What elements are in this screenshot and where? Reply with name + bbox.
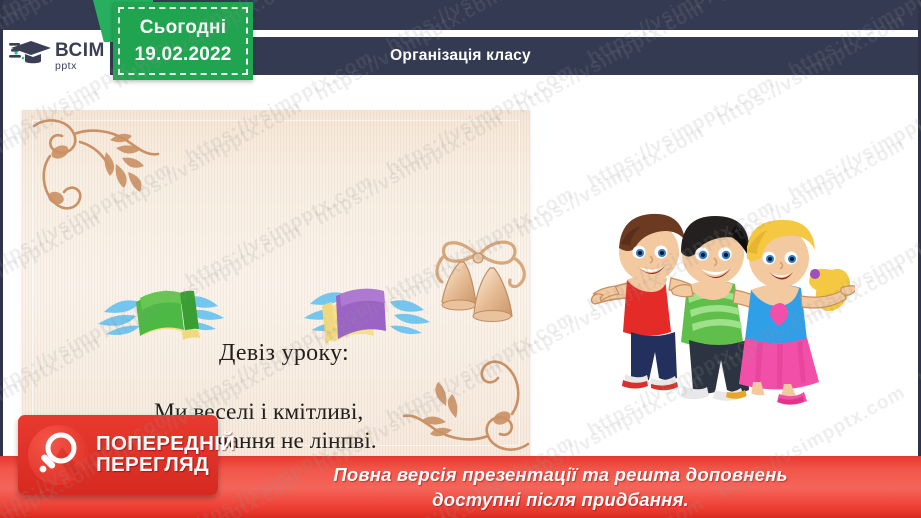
presentation-slide: Організація класу ВСІМ (0, 0, 921, 518)
date-badge-label: Сьогодні (140, 17, 226, 39)
date-badge-value: 19.02.2022 (134, 44, 231, 66)
children-illustration (575, 178, 855, 410)
page-title: Організація класу (390, 47, 531, 65)
date-badge: Сьогодні 19.02.2022 (113, 2, 253, 80)
green-flying-book-icon (96, 272, 226, 350)
banner-line-1: Повна версія презентації та решта доповн… (200, 462, 921, 487)
school-bells-icon (420, 228, 540, 328)
graduation-cap-icon (9, 37, 53, 76)
floral-ornament-top-left-icon (30, 112, 180, 232)
purple-flying-book-icon (302, 272, 432, 350)
preview-badge[interactable]: ПОПЕРЕДНІЙ ПЕРЕГЛЯД (18, 415, 218, 495)
logo-sub-text: pptx (55, 61, 105, 72)
girl-blue-top (739, 220, 855, 405)
brand-logo[interactable]: ВСІМ pptx (3, 30, 110, 82)
preview-badge-line-2: ПЕРЕГЛЯД (96, 455, 235, 476)
logo-main-text: ВСІМ (55, 41, 105, 60)
content-card: Девіз уроку: Ми веселі і кмітливі, до на… (22, 110, 530, 456)
motto-title: Девіз уроку: (84, 340, 484, 367)
banner-line-2: доступні після придбання. (200, 487, 921, 512)
magnifier-icon (28, 425, 88, 485)
preview-badge-line-1: ПОПЕРЕДНІЙ (96, 434, 235, 455)
